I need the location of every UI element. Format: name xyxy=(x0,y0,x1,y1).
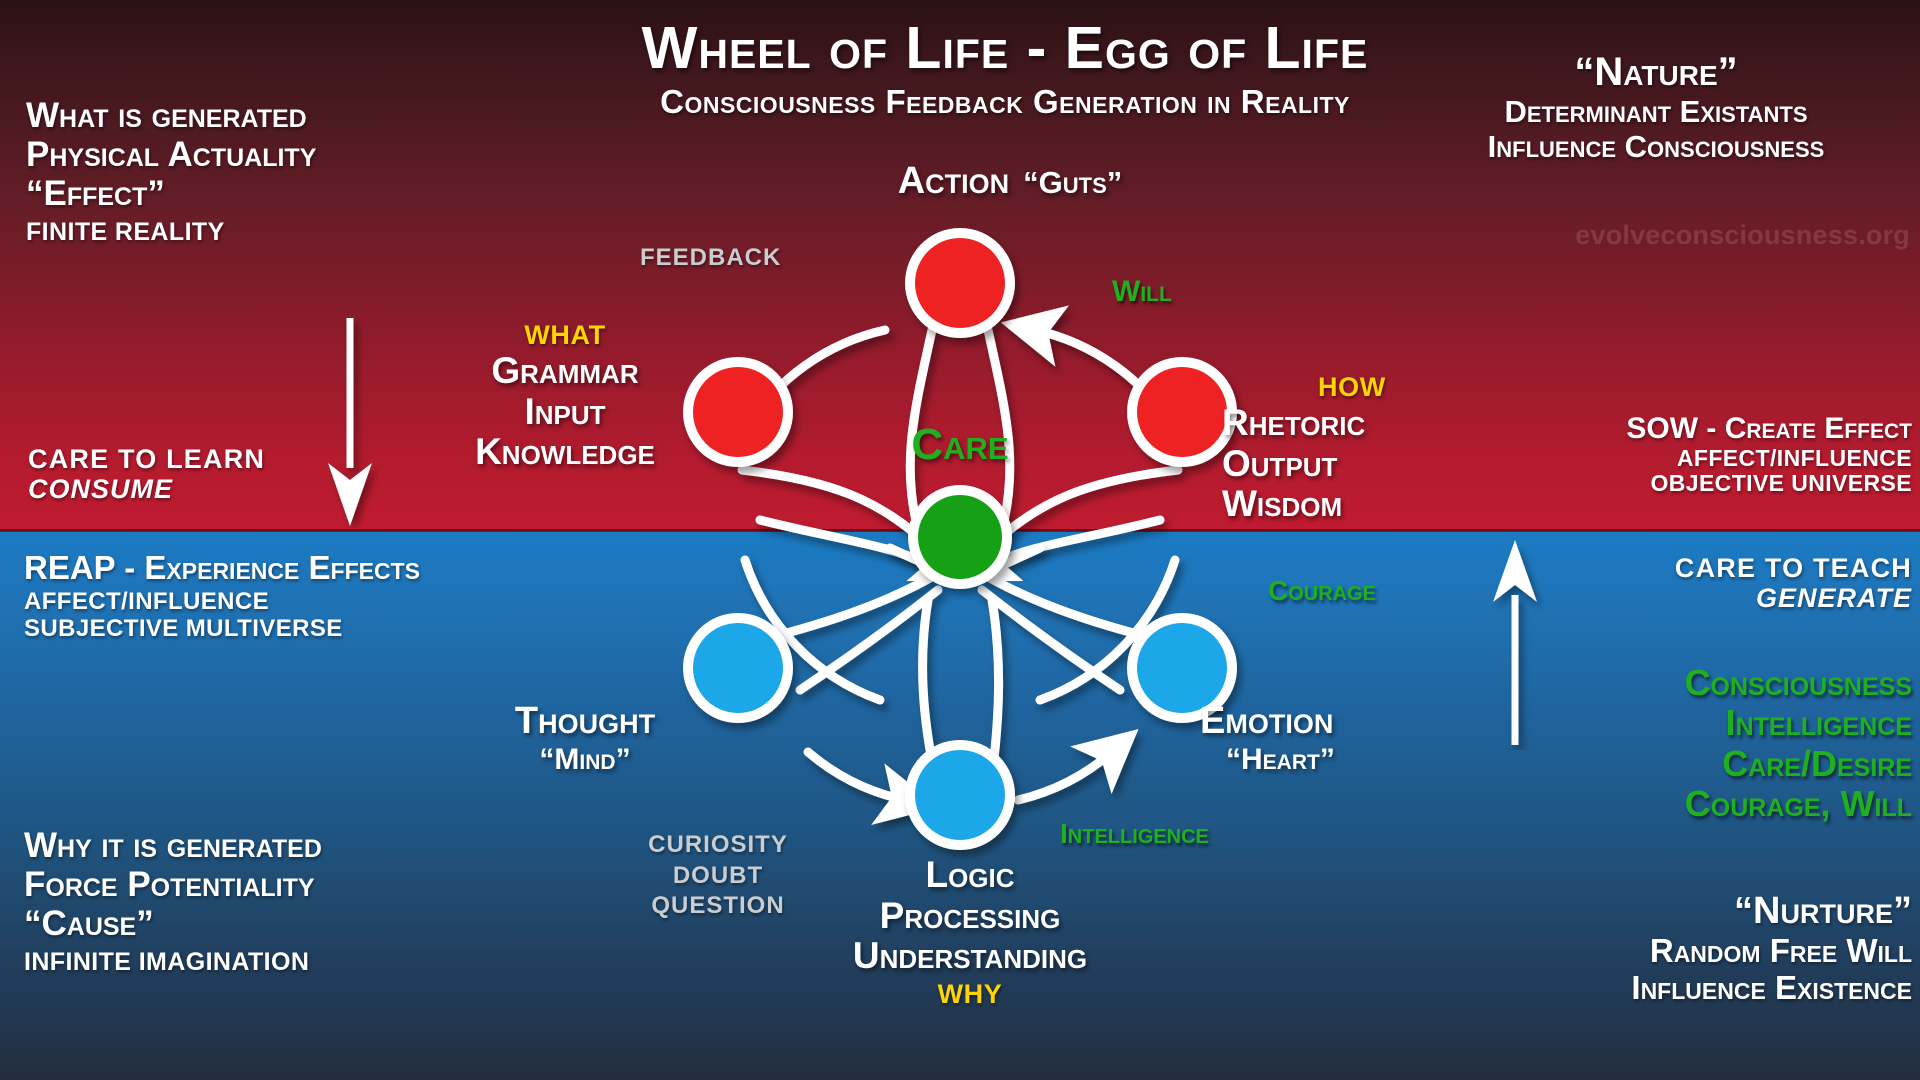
annotation-will: Will xyxy=(1112,275,1172,309)
label-grammar-line3: Knowledge xyxy=(440,432,690,473)
label-logic-title: Logic xyxy=(760,855,1180,896)
label-why-tag: WHY xyxy=(760,979,1180,1010)
care-to-learn-block: care to learn consume xyxy=(28,444,448,504)
attribute-consciousness: Consciousness xyxy=(1380,663,1912,703)
label-thought-title: Thought xyxy=(460,700,710,743)
attribute-courage-will: Courage, Will xyxy=(1380,784,1912,824)
left-top-line3: “Effect” xyxy=(26,174,496,213)
reap-block: REAP - Experience Effects affect/influen… xyxy=(24,550,544,643)
label-grammar: WHAT Grammar Input Knowledge xyxy=(440,320,690,473)
nature-block: “Nature” Determinant Existants Influence… xyxy=(1400,50,1912,164)
left-top-line2: Physical Actuality xyxy=(26,135,496,174)
left-top-line1: What is generated xyxy=(26,96,496,135)
annotation-curiosity: CURIOSITY xyxy=(618,830,818,861)
nurture-line2: Random Free Will xyxy=(1400,933,1912,970)
label-grammar-line2: Input xyxy=(440,392,690,433)
nature-line2: Determinant Existants xyxy=(1400,95,1912,130)
wheel-of-life-infographic: Wheel of Life - Egg of Life Consciousnes… xyxy=(0,0,1920,1080)
care-to-learn-label: care to learn xyxy=(28,444,448,474)
annotation-doubt: DOUBT xyxy=(618,861,818,892)
label-grammar-title: Grammar xyxy=(440,351,690,392)
left-bottom-line4: infinite imagination xyxy=(24,948,544,976)
nurture-line3: Influence Existence xyxy=(1400,970,1912,1007)
nature-line3: Influence Consciousness xyxy=(1400,130,1912,165)
sow-line2: affect/influence xyxy=(1420,446,1912,472)
label-logic: Logic Processing Understanding WHY xyxy=(760,855,1180,1010)
annotation-intelligence: Intelligence xyxy=(1060,818,1209,849)
annotation-curiosity-doubt-question: CURIOSITY DOUBT QUESTION xyxy=(618,830,818,922)
reap-line1: REAP - Experience Effects xyxy=(24,550,544,587)
title-main: Wheel of Life - Egg of Life xyxy=(500,14,1510,82)
sow-block: SOW - Create Effect affect/influence obj… xyxy=(1420,412,1912,497)
sow-line3: objective universe xyxy=(1420,471,1912,497)
label-rhetoric-line3: Wisdom xyxy=(1222,484,1482,525)
label-thought-sub: “Mind” xyxy=(460,743,710,777)
label-care: Care xyxy=(860,420,1060,470)
label-how-tag: HOW xyxy=(1318,372,1482,403)
left-top-block: What is generated Physical Actuality “Ef… xyxy=(26,96,496,246)
label-logic-line2: Processing xyxy=(760,896,1180,937)
label-what-tag: WHAT xyxy=(440,320,690,351)
annotation-question: QUESTION xyxy=(618,891,818,922)
page-title: Wheel of Life - Egg of Life Consciousnes… xyxy=(500,14,1510,121)
nature-line1: “Nature” xyxy=(1400,50,1912,95)
label-action-sub: “Guts” xyxy=(1023,165,1122,200)
nurture-line1: “Nurture” xyxy=(1400,890,1912,933)
left-bottom-line2: Force Potentiality xyxy=(24,865,544,904)
annotation-feedback: FEEDBACK xyxy=(640,245,781,272)
left-bottom-line3: “Cause” xyxy=(24,904,544,943)
label-emotion: Emotion “Heart” xyxy=(1200,700,1480,777)
reap-line2: affect/influence xyxy=(24,589,544,616)
label-action: Action“Guts” xyxy=(840,160,1180,203)
down-arrow-icon xyxy=(320,318,380,528)
label-logic-line3: Understanding xyxy=(760,936,1180,977)
left-bottom-line1: Why it is generated xyxy=(24,826,544,865)
label-emotion-sub: “Heart” xyxy=(1226,743,1480,777)
left-bottom-block: Why it is generated Force Potentiality “… xyxy=(24,826,544,976)
annotation-courage: Courage xyxy=(1268,575,1376,606)
label-rhetoric-line2: Output xyxy=(1222,444,1482,485)
label-emotion-title: Emotion xyxy=(1200,700,1480,743)
consume-label: consume xyxy=(28,474,448,504)
label-rhetoric: HOW Rhetoric Output Wisdom xyxy=(1222,372,1482,525)
up-arrow-icon xyxy=(1485,540,1545,750)
nurture-block: “Nurture” Random Free Will Influence Exi… xyxy=(1400,890,1912,1006)
label-rhetoric-title: Rhetoric xyxy=(1222,403,1482,444)
watermark: evolveconsciousness.org xyxy=(1420,220,1910,251)
label-action-title: Action xyxy=(898,160,1009,202)
label-thought: Thought “Mind” xyxy=(460,700,710,777)
sow-line1: SOW - Create Effect xyxy=(1420,412,1912,446)
title-subtitle: Consciousness Feedback Generation in Rea… xyxy=(500,83,1510,121)
horizontal-divider xyxy=(0,529,1920,532)
reap-line3: subjective multiverse xyxy=(24,616,544,643)
left-top-line4: finite reality xyxy=(26,218,496,246)
